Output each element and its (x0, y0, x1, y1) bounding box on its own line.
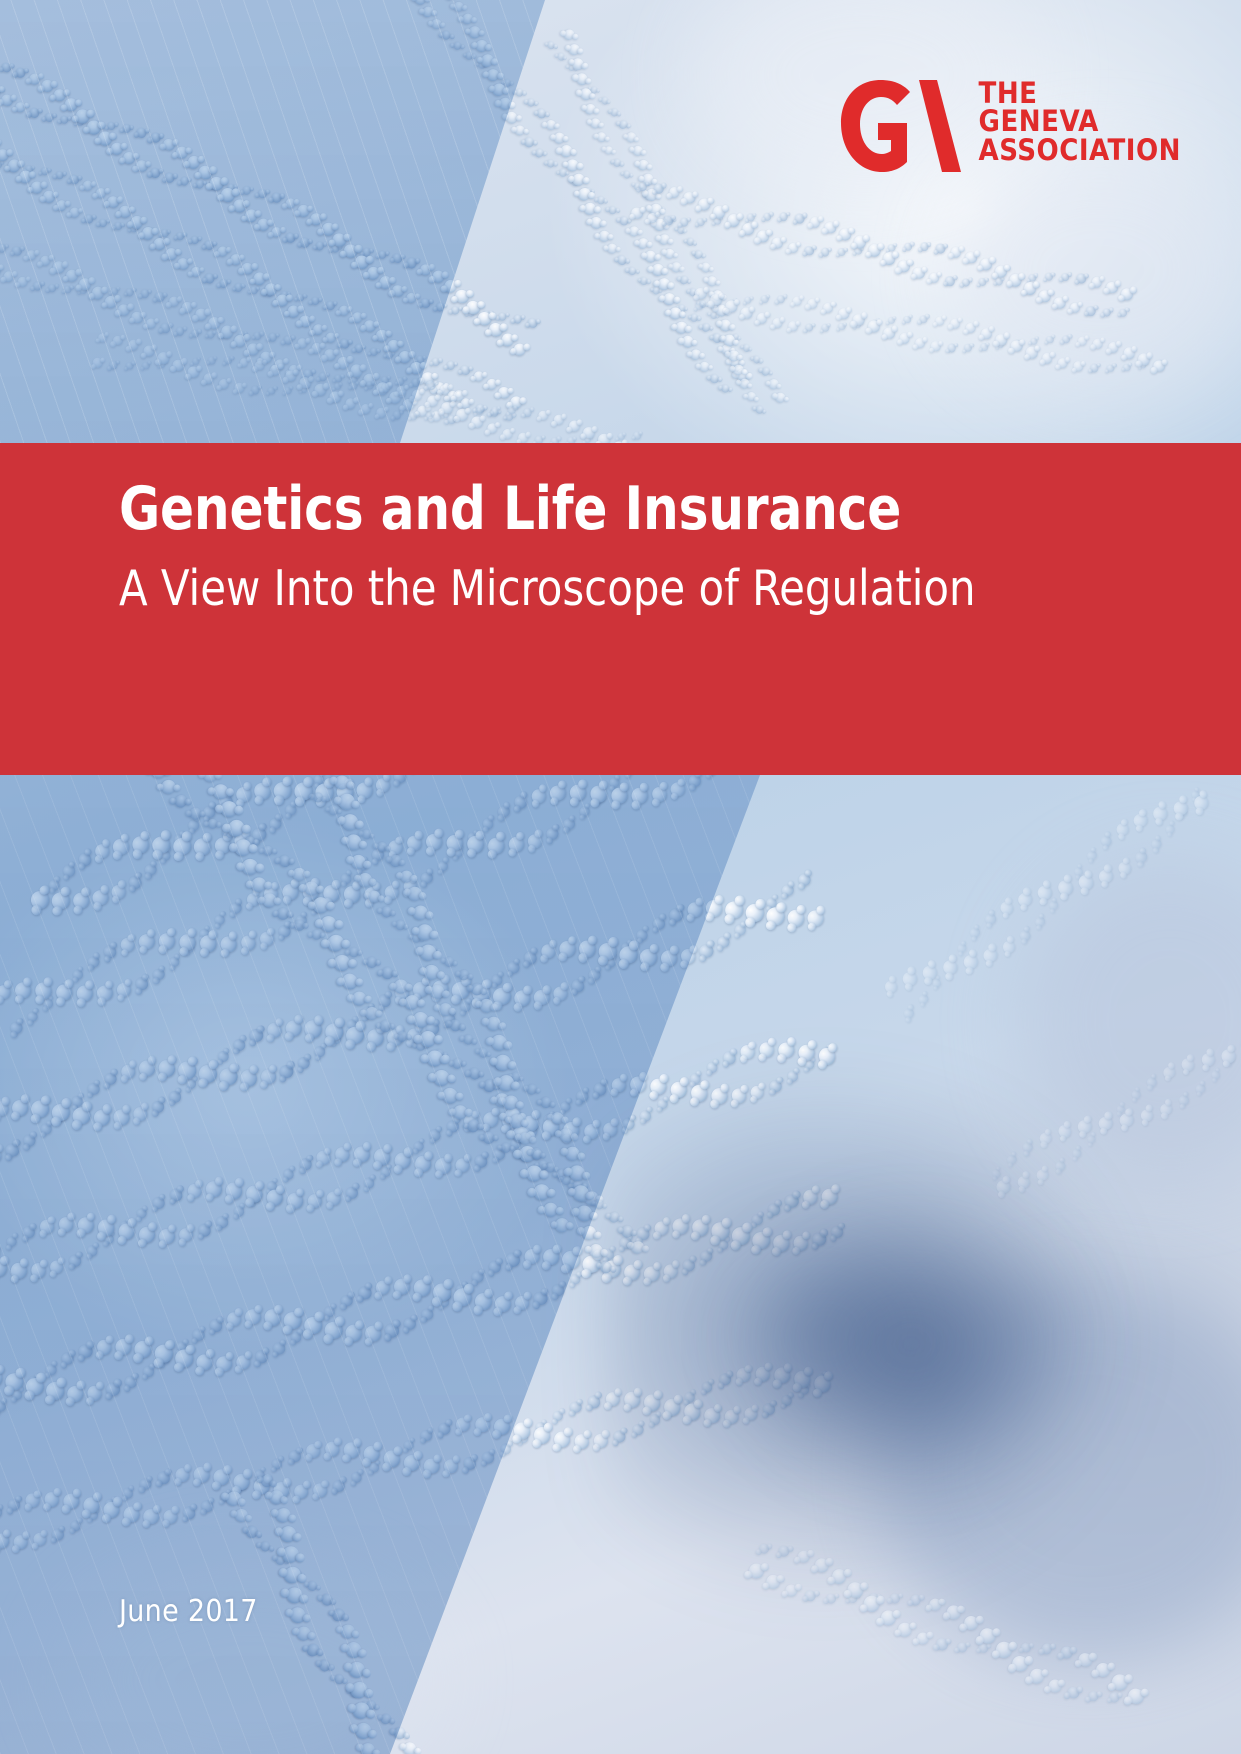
logo-line-the: THE (979, 79, 1181, 107)
logo-line-association: ASSOCIATION (979, 136, 1181, 164)
logo-line-geneva: GENEVA (979, 107, 1181, 135)
defocus-shadow-core (701, 1164, 1121, 1524)
publication-date: June 2017 (119, 1594, 258, 1629)
page-subtitle: A View Into the Microscope of Regulation (119, 564, 976, 613)
report-cover-page: THE GENEVA ASSOCIATION Genetics and Life… (0, 0, 1241, 1754)
page-title: Genetics and Life Insurance (119, 479, 901, 539)
geneva-association-logo[interactable]: THE GENEVA ASSOCIATION (833, 76, 1181, 176)
geneva-association-monogram-icon (833, 76, 963, 176)
logo-wordmark: THE GENEVA ASSOCIATION (979, 76, 1181, 164)
title-band: Genetics and Life Insurance A View Into … (0, 443, 1241, 775)
